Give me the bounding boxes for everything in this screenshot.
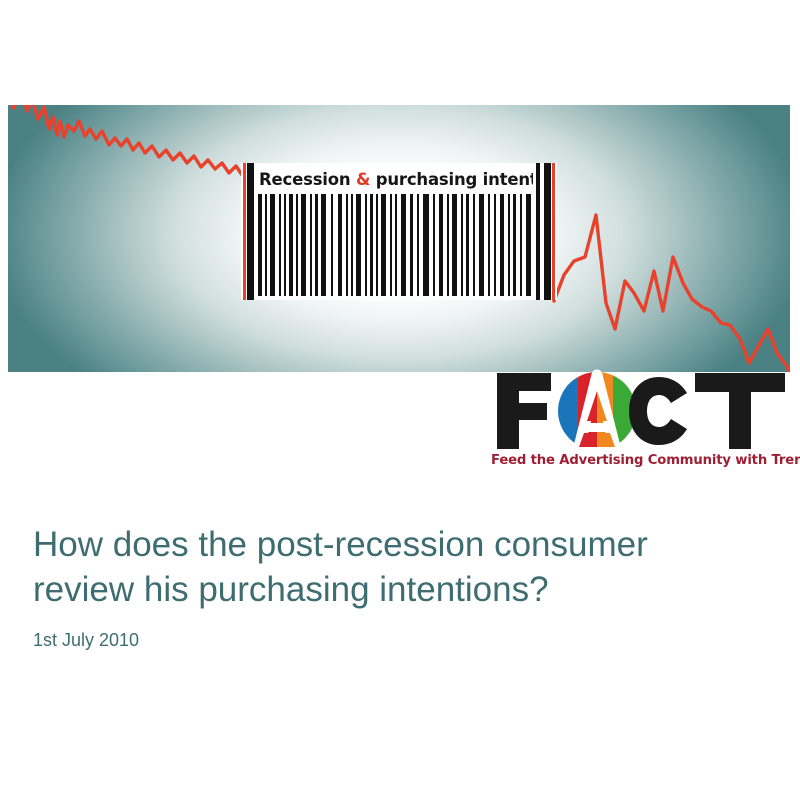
fact-logo-tagline: Feed the Advertising Community with Tren…	[491, 453, 791, 468]
page-title-line-1: How does the post-recession consumer	[33, 522, 763, 567]
barcode-guard-left-black	[247, 163, 254, 300]
page-title: How does the post-recession consumer rev…	[33, 522, 763, 612]
barcode-guard-right-black	[544, 163, 551, 300]
publication-date: 1st July 2010	[33, 628, 139, 652]
barcode-graphic: Recession & purchasing intention	[241, 163, 557, 300]
barcode-guard-right-black-2	[536, 163, 540, 300]
trend-line-left	[8, 105, 248, 187]
barcode-bars	[258, 194, 534, 296]
fact-logo: Feed the Advertising Community with Tren…	[491, 369, 791, 477]
fact-logo-mark	[491, 369, 791, 453]
logo-letter-c	[629, 377, 687, 445]
barcode-guard-left-red	[243, 163, 246, 300]
logo-letter-f	[497, 373, 551, 449]
logo-letter-t	[695, 373, 785, 449]
barcode-title-prefix: Recession	[259, 170, 356, 189]
trend-line-right	[554, 215, 790, 372]
logo-letter-a-circle	[558, 372, 637, 450]
barcode-title-suffix: purchasing intention	[370, 170, 533, 189]
barcode-title: Recession & purchasing intention	[259, 167, 533, 193]
page-title-line-2: review his purchasing intentions?	[33, 567, 763, 612]
barcode-guard-right-red	[552, 163, 555, 300]
barcode-title-ampersand: &	[356, 170, 370, 189]
